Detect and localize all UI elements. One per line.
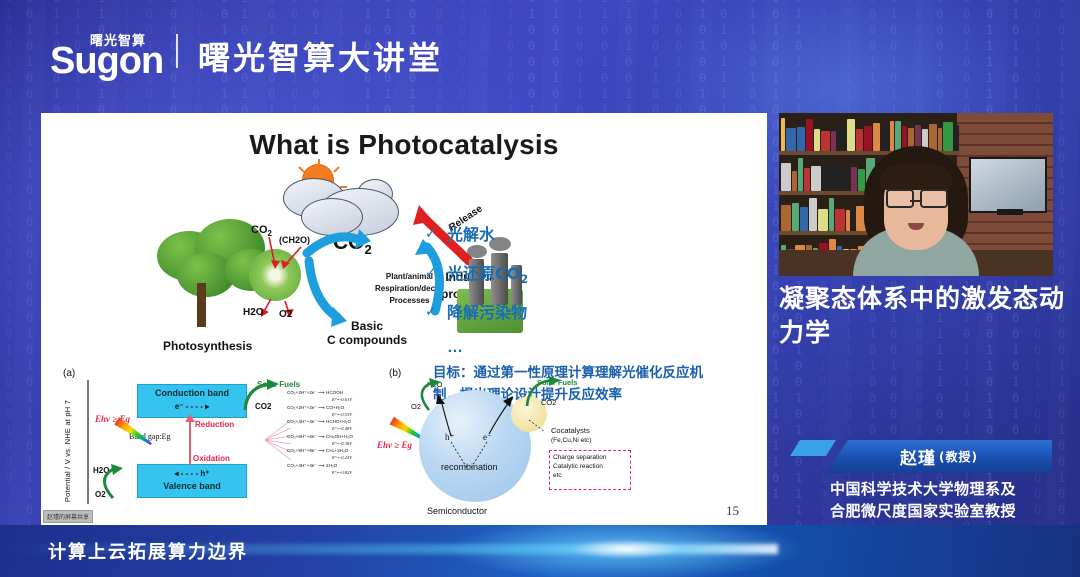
app-root: 1 1 0 0 1 1 0 1 1 1 0 1 0 1 1 1 0 1 0 1 …: [0, 0, 1080, 577]
list-item: ✓ 光解水: [425, 221, 528, 247]
list-item: ✓ 降解污染物: [425, 299, 528, 325]
footer-glow: [446, 525, 806, 577]
page-title: 曙光智算大讲堂: [198, 33, 443, 79]
equation-potential: E°=-0.82V: [287, 469, 397, 476]
speaker-name: 赵瑾 (教授): [826, 440, 1052, 473]
process-notes-box: Charge separation Catalytic reaction etc: [549, 450, 631, 490]
speaker-video-thumbnail[interactable]: [779, 113, 1053, 276]
panel-a-label: (a): [63, 368, 75, 379]
check-icon: ✓: [425, 265, 447, 281]
mechanism-figure: (a) (b) Potential / V vs. NHE at pH 7 Co…: [59, 366, 749, 516]
water-oxidation-arc-icon: [405, 376, 445, 416]
speaker-affiliation: 中国科学技术大学物理系及 合肥微尺度国家实验室教授: [779, 478, 1067, 522]
panel-b-label: (b): [389, 368, 401, 379]
footer-slogan: 计算上云拓展算力边界: [48, 538, 248, 564]
eyeglasses-bridge: [910, 200, 922, 202]
process-note: etc: [553, 471, 627, 480]
reduction-arc-icon: [241, 376, 285, 420]
conduction-band-box: Conduction band e⁻ - - - - ▸: [137, 384, 247, 418]
bullet-label: 光解水: [447, 221, 495, 247]
check-icon: ✓: [425, 304, 447, 320]
oxidation-arc-icon: [89, 462, 129, 504]
reaction-equations: CO₂+2H⁺+2e⁻ ⟶ HCOOH E°=-0.61V CO₂+2H⁺+2e…: [287, 390, 397, 477]
session-topic-title: 凝聚态体系中的激发态动力学: [779, 282, 1065, 350]
page-footer: 计算上云拓展算力边界: [0, 525, 1080, 577]
bullet-ellipsis: …: [447, 339, 528, 357]
equation-potential: E°=-0.53V: [287, 411, 397, 418]
semiconductor-label: Semiconductor: [427, 506, 487, 516]
brand-logo: 曙光智算 Sugon: [50, 30, 190, 86]
speaker-academic-title: (教授): [939, 448, 978, 465]
eyeglasses-left-icon: [886, 189, 914, 208]
logo-wordmark: Sugon: [50, 40, 163, 83]
equation-potential: E°=-0.24V: [287, 454, 397, 461]
bullet-label: 降解污染物: [447, 299, 527, 325]
equation-potential: E°=-0.61V: [287, 396, 397, 403]
presentation-slide[interactable]: What is Photocatalysis CO2: [41, 113, 767, 525]
process-note: Charge separation: [553, 453, 627, 462]
band-gap-arrowhead-icon: [185, 414, 195, 422]
valence-band-box: ◂ - - - - h⁺ Valence band: [137, 464, 247, 498]
check-icon: ✓: [425, 226, 447, 242]
screen-share-label: 赵瑾的屏幕共享: [43, 510, 93, 523]
speaker-bangs: [880, 164, 952, 190]
slide-title: What is Photocatalysis: [41, 129, 767, 161]
list-item: ✓ 光还原CO2: [425, 260, 528, 286]
bullet-list: ✓ 光解水 ✓ 光还原CO2 ✓ 降解污染物 …: [425, 221, 528, 357]
page-header: 曙光智算 Sugon 曙光智算大讲堂: [0, 0, 1080, 108]
photon-energy-label-b: Ehv ≥ Eg: [377, 440, 412, 450]
logo-block: 曙光智算 Sugon: [50, 30, 190, 86]
equation-potential: E°=-0.48V: [287, 425, 397, 432]
oxidation-label: Oxidation: [193, 454, 230, 463]
process-note: Catalytic reaction: [553, 462, 627, 471]
monitor-stand: [997, 209, 1023, 215]
reduction-label: Reduction: [195, 420, 234, 429]
bullet-label: 光还原CO2: [447, 260, 528, 286]
band-gap-arrow: [189, 416, 191, 464]
slide-page-number: 15: [726, 503, 739, 519]
solar-fuel-arc-icon: [521, 374, 563, 414]
monitor-screen: [969, 157, 1047, 213]
axis-label: Potential / V vs. NHE at pH 7: [63, 400, 72, 502]
eyeglasses-right-icon: [920, 189, 948, 208]
header-divider: [176, 34, 178, 68]
